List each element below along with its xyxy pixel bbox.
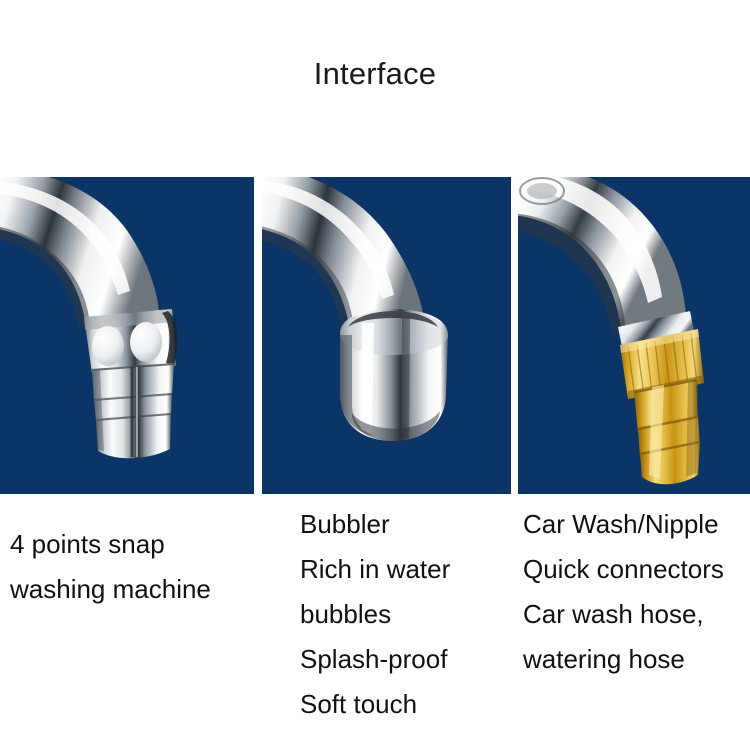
caption-column-bubbler: Bubbler Rich in water bubbles Splash-pro… xyxy=(300,494,515,727)
caption-column-four-point-snap: 4 points snap washing machine xyxy=(10,494,255,612)
product-image-strip xyxy=(0,177,750,494)
caption-line: Rich in water xyxy=(300,547,515,592)
faucet-four-point-snap-adapter-photo xyxy=(0,177,254,494)
caption-line: watering hose xyxy=(523,637,750,682)
page-title: Interface xyxy=(0,56,750,92)
caption-line: Car Wash/Nipple xyxy=(523,502,750,547)
caption-line: Splash-proof xyxy=(300,637,515,682)
product-panel-car-wash-nipple xyxy=(518,177,750,494)
caption-line: Car wash hose, xyxy=(523,592,750,637)
caption-area: 4 points snap washing machine Bubbler Ri… xyxy=(0,494,750,750)
faucet-bubbler-aerator-photo xyxy=(262,177,511,494)
faucet-brass-quick-connector-photo xyxy=(518,177,750,494)
product-panel-four-point-snap xyxy=(0,177,254,494)
caption-line: Bubbler xyxy=(300,502,515,547)
caption-line: Soft touch xyxy=(300,682,515,727)
caption-line: bubbles xyxy=(300,592,515,637)
caption-column-car-wash-nipple: Car Wash/Nipple Quick connectors Car was… xyxy=(523,494,750,682)
caption-line: washing machine xyxy=(10,567,255,612)
caption-line: Quick connectors xyxy=(523,547,750,592)
product-panel-bubbler xyxy=(262,177,511,494)
caption-line: 4 points snap xyxy=(10,522,255,567)
